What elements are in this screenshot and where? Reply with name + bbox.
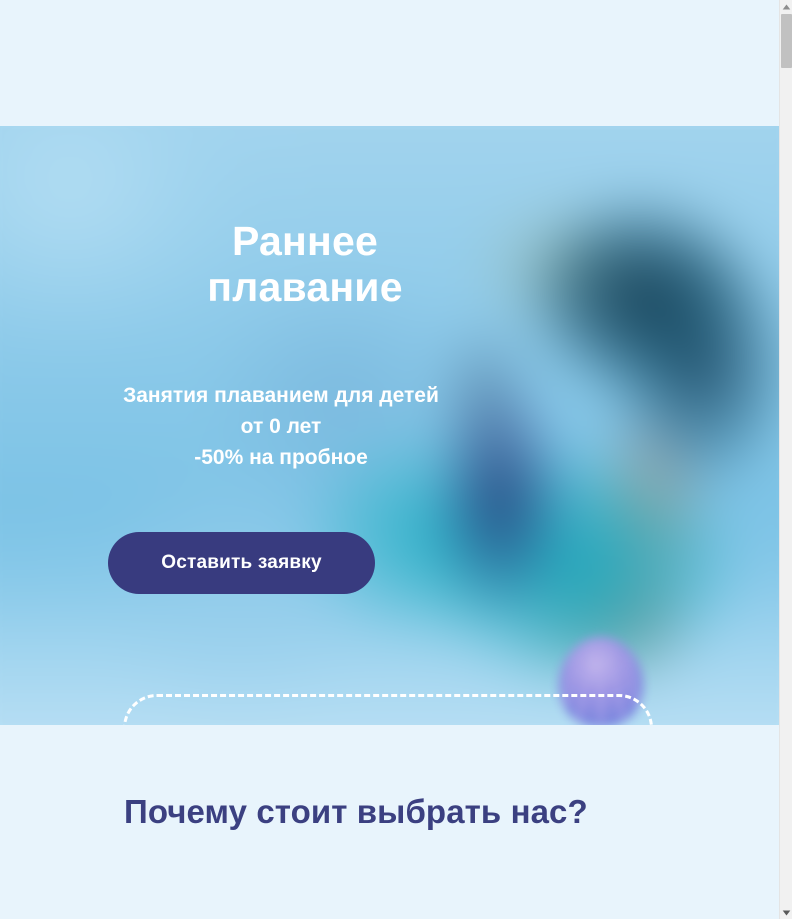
hero-subtitle-line-1: Занятия плаванием для детей xyxy=(123,384,439,407)
hero-title-line-1: Раннее xyxy=(232,218,378,264)
scrollbar-thumb[interactable] xyxy=(781,14,792,68)
hero-subtitle: Занятия плаванием для детей от 0 лет -50… xyxy=(0,310,562,473)
scroll-up-arrow-icon[interactable] xyxy=(780,0,792,13)
page-top-spacer xyxy=(0,0,779,126)
hero-subtitle-line-3: -50% на пробное xyxy=(194,446,368,469)
hero-section: Раннее плавание Занятия плаванием для де… xyxy=(0,126,779,725)
hero-subtitle-line-2: от 0 лет xyxy=(241,415,322,438)
leave-request-button[interactable]: Оставить заявку xyxy=(108,532,375,594)
why-choose-us-section: Почему стоит выбрать нас? xyxy=(0,725,779,919)
browser-viewport: Раннее плавание Занятия плаванием для де… xyxy=(0,0,792,919)
hero-content: Раннее плавание Занятия плаванием для де… xyxy=(0,126,610,473)
scroll-down-arrow-icon[interactable] xyxy=(780,906,792,919)
hero-title-line-2: плавание xyxy=(207,264,402,310)
page-content: Раннее плавание Занятия плаванием для де… xyxy=(0,0,779,919)
hero-title: Раннее плавание xyxy=(0,126,610,310)
page-scrollbar[interactable] xyxy=(779,0,792,919)
cta-wrapper: Оставить заявку xyxy=(108,532,375,594)
why-choose-us-title: Почему стоит выбрать нас? xyxy=(124,793,588,831)
